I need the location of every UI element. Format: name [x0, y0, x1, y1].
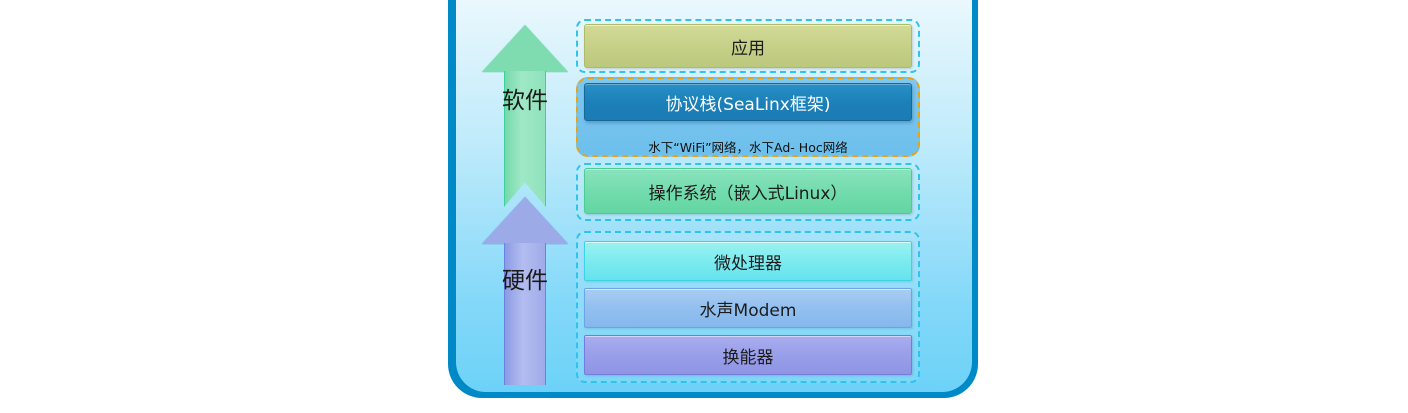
hardware-item-label: 水声Modem	[700, 296, 797, 321]
diagram-canvas: 软件 硬件 应用 协议栈(SeaLinx框架) 水下“WiFi”网络，水下Ad-…	[0, 0, 1408, 413]
hardware-item-microprocessor: 微处理器	[584, 241, 912, 281]
protocol-stack-box: 协议栈(SeaLinx框架)	[584, 83, 912, 121]
operating-system-layer-box: 操作系统（嵌入式Linux）	[584, 168, 912, 214]
software-arrow-head-icon	[482, 25, 568, 72]
hardware-arrow: 硬件	[482, 197, 568, 385]
hardware-item-acoustic-modem: 水声Modem	[584, 288, 912, 328]
protocol-stack-description-line-1: 水下“WiFi”网络，水下Ad- Hoc网络	[584, 140, 912, 156]
hardware-arrow-head-icon	[482, 197, 568, 244]
hardware-item-label: 换能器	[723, 343, 774, 368]
software-arrow-label: 软件	[482, 89, 568, 114]
hardware-item-transducer: 换能器	[584, 335, 912, 375]
operating-system-label: 操作系统（嵌入式Linux）	[649, 179, 848, 204]
application-layer-box: 应用	[584, 24, 912, 68]
hardware-arrow-label: 硬件	[482, 269, 568, 294]
hardware-arrow-shaft	[504, 243, 546, 385]
protocol-stack-description: 水下“WiFi”网络，水下Ad- Hoc网络 水下“卫星”导航定位网络等	[584, 124, 912, 154]
hardware-item-label: 微处理器	[714, 249, 782, 274]
protocol-stack-label: 协议栈(SeaLinx框架)	[666, 90, 831, 115]
software-arrow: 软件	[482, 25, 568, 207]
application-layer-label: 应用	[731, 34, 765, 59]
